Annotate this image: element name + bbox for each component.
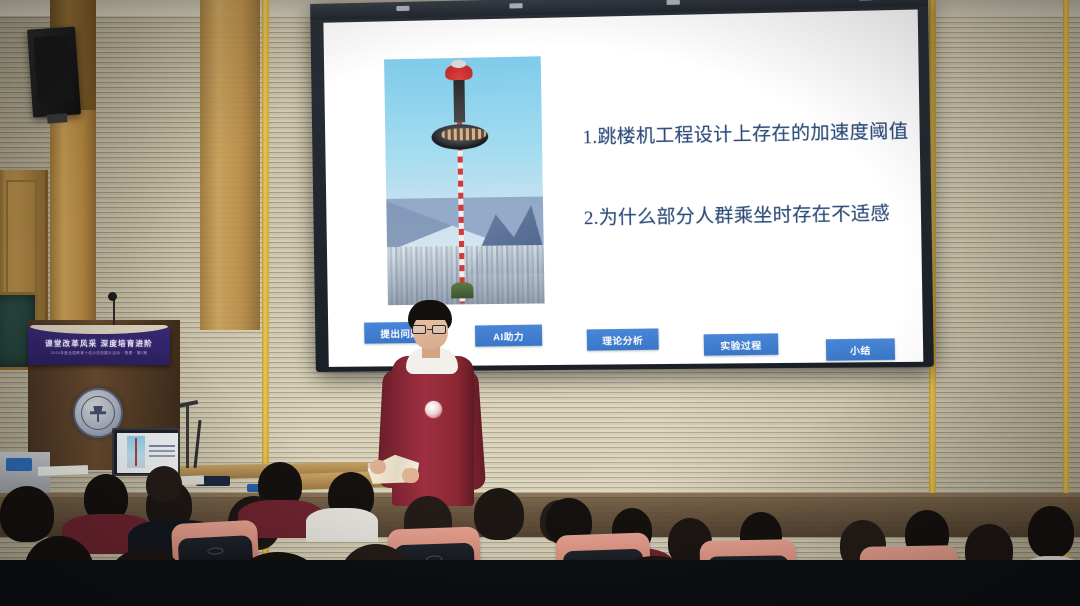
audience	[0, 0, 1080, 606]
audience-head	[474, 488, 524, 540]
audience-head	[0, 486, 54, 542]
audience-head	[146, 466, 182, 502]
audience-shoulders	[306, 508, 378, 542]
foreground-shadow	[0, 560, 1080, 606]
classroom-photo-scene: 1.跳楼机工程设计上存在的加速度阈值 2.为什么部分人群乘坐时存在不适感 提出问…	[0, 0, 1080, 606]
audience-head	[1028, 506, 1074, 558]
